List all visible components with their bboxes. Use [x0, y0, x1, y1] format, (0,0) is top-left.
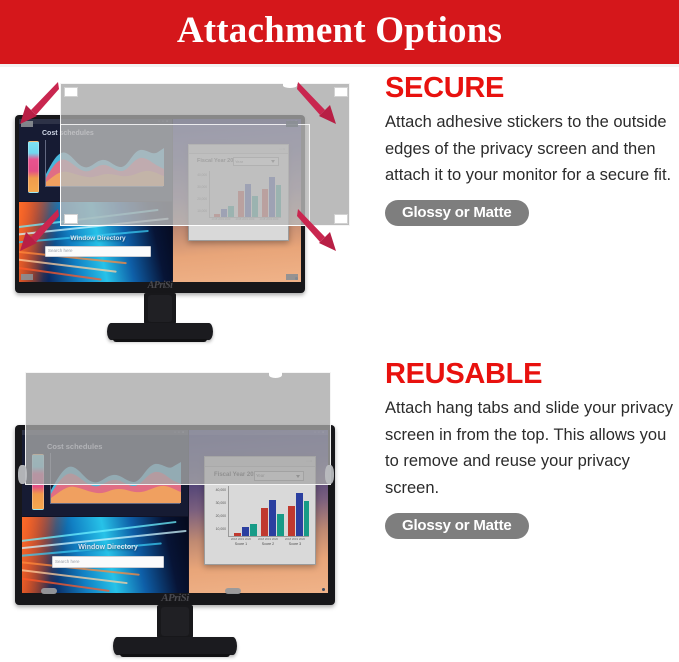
- bar: [277, 514, 284, 536]
- desktop-title: Window Directory: [60, 544, 156, 551]
- monitor-base-lip: [113, 339, 207, 342]
- body-secure: Attach adhesive stickers to the outside …: [385, 109, 677, 189]
- film-notch: [269, 372, 282, 378]
- body-reusable: Attach hang tabs and slide your privacy …: [385, 395, 677, 502]
- infographic-page: Attachment Options ▫ ▫ × Cost schedules: [0, 0, 679, 662]
- bar: [269, 500, 276, 536]
- desktop-search-placeholder: Search here: [55, 559, 80, 564]
- monitor-base-lip: [120, 654, 230, 657]
- bar-group-label: Score 1: [229, 542, 253, 546]
- headline-secure: SECURE: [385, 74, 677, 103]
- pane-desktop: Window Directory Search here: [22, 517, 188, 593]
- arrow-icon: [14, 207, 60, 253]
- privacy-film-reusable[interactable]: [25, 372, 331, 485]
- arrow-icon: [296, 207, 342, 253]
- banner-divider: [0, 64, 679, 67]
- sticker-contact-point: [286, 274, 298, 280]
- bar-group-label: Score 3: [283, 542, 307, 546]
- color-legend-bar: [28, 141, 39, 193]
- bar: [304, 501, 309, 536]
- hang-tab[interactable]: [41, 588, 57, 594]
- finish-badge-reusable[interactable]: Glossy or Matte: [385, 513, 529, 539]
- adhesive-sticker[interactable]: [64, 214, 78, 224]
- bar: [261, 508, 268, 536]
- finish-badge-secure[interactable]: Glossy or Matte: [385, 200, 529, 226]
- monitor-neck-inner: [161, 607, 189, 636]
- arrow-icon: [14, 80, 60, 126]
- privacy-film-clear-area: [60, 124, 310, 226]
- brand-logo: APriSi: [15, 280, 305, 291]
- desktop-wallpaper: [22, 517, 188, 593]
- adhesive-sticker[interactable]: [64, 87, 78, 97]
- header-banner: Attachment Options: [0, 0, 679, 66]
- copy-reusable: REUSABLE Attach hang tabs and slide your…: [385, 360, 677, 660]
- hang-tab[interactable]: [225, 588, 241, 594]
- page-title: Attachment Options: [0, 0, 679, 60]
- section-reusable: ▫ ▫ × Cost schedules: [0, 360, 679, 660]
- desktop-title: Window Directory: [53, 235, 143, 242]
- headline-reusable: REUSABLE: [385, 360, 677, 389]
- monitor-base: [107, 323, 213, 340]
- monitor-neck: [144, 293, 176, 324]
- film-notch: [283, 83, 297, 88]
- hang-tab[interactable]: [18, 465, 27, 484]
- brand-logo: APriSi: [15, 592, 335, 604]
- bar: [250, 524, 257, 536]
- sticker-contact-point: [21, 274, 33, 280]
- copy-secure: SECURE Attach adhesive stickers to the o…: [385, 74, 677, 364]
- power-led: [322, 588, 325, 591]
- bar: [288, 506, 295, 536]
- monitor-neck-inner: [148, 295, 172, 322]
- bar-chart: 40,000 30,000 20,000 10,000: [217, 486, 309, 546]
- section-secure: ▫ ▫ × Cost schedules: [0, 74, 679, 364]
- monitor-base: [113, 637, 237, 655]
- hang-tab[interactable]: [325, 465, 334, 484]
- bar: [234, 533, 241, 536]
- bar: [242, 527, 249, 536]
- bar-group-label: Score 2: [256, 542, 280, 546]
- arrow-icon: [296, 80, 342, 126]
- monitor-illustration-reusable: ▫ ▫ × Cost schedules: [0, 360, 372, 660]
- monitor-illustration-secure: ▫ ▫ × Cost schedules: [0, 74, 372, 364]
- monitor-neck: [157, 605, 193, 638]
- area-chart-xaxis: [50, 503, 180, 505]
- bar: [296, 493, 303, 536]
